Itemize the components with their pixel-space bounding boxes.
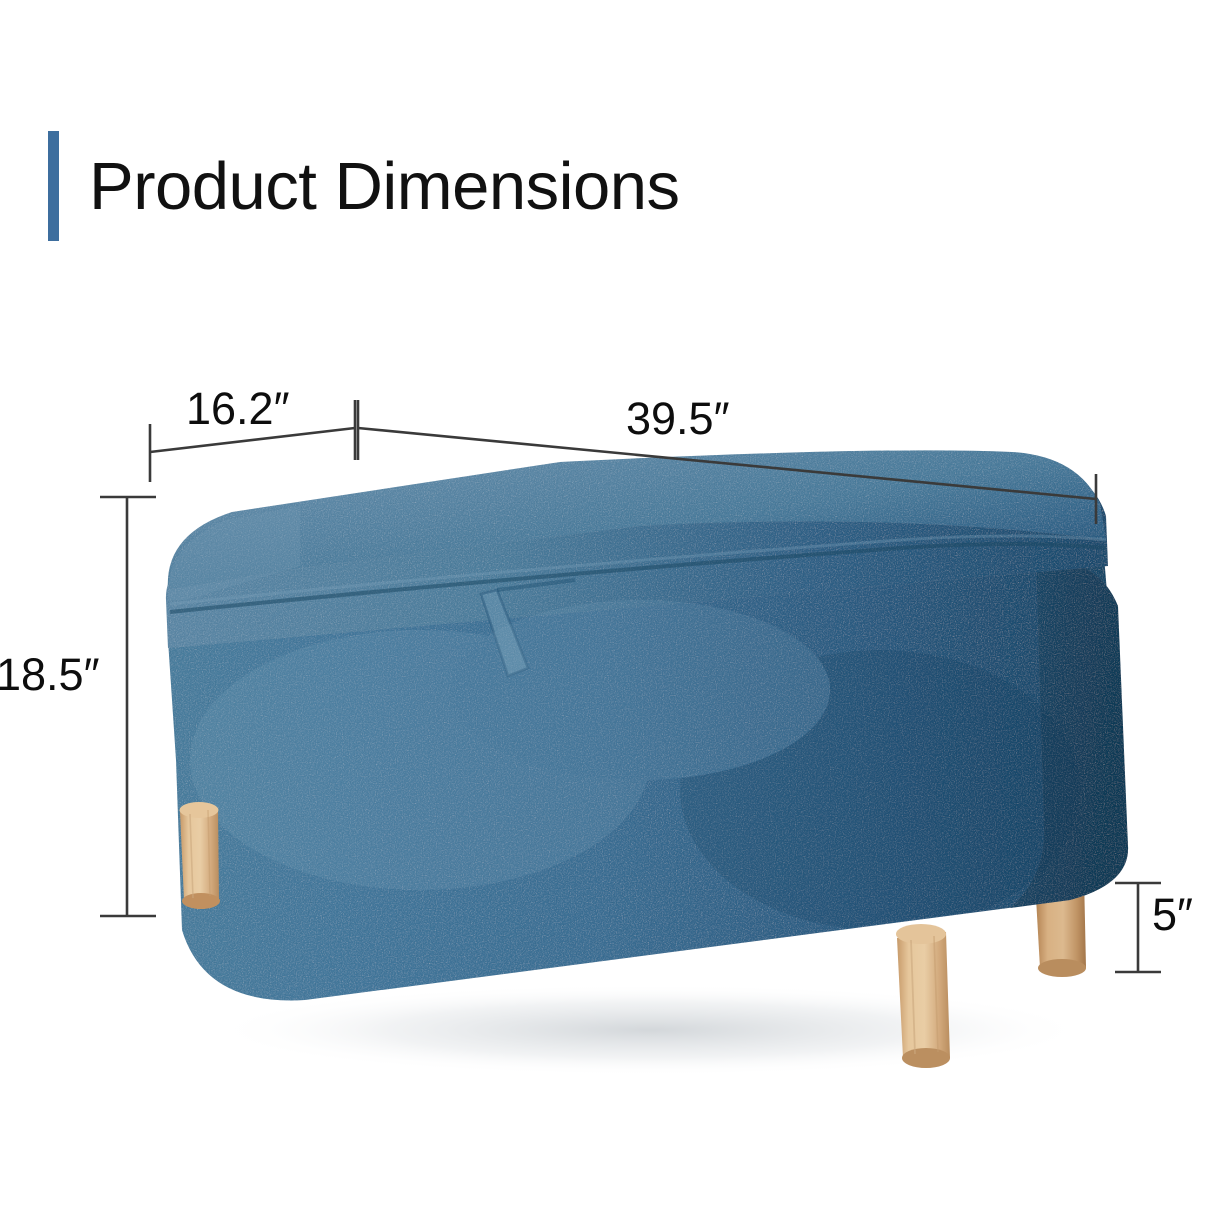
product-illustration xyxy=(0,0,1208,1208)
height-dimension-label: 18.5″ xyxy=(0,652,100,697)
leg-height-dimension-label: 5″ xyxy=(1152,892,1193,937)
ground-shadow xyxy=(210,984,1090,1076)
leg-front-left xyxy=(180,802,221,909)
bench-body xyxy=(166,450,1128,1000)
width-dimension-label: 39.5″ xyxy=(626,396,730,441)
leg-front-right xyxy=(896,924,950,1068)
depth-dimension-label: 16.2″ xyxy=(186,386,290,431)
product-dimensions-infographic: Product Dimensions xyxy=(0,0,1208,1208)
